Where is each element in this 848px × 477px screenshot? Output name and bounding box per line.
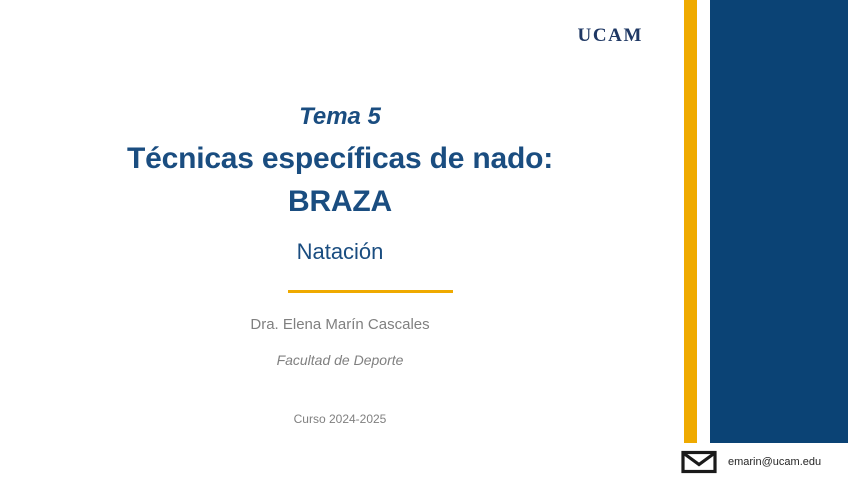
- page-title-line-2: BRAZA: [0, 181, 680, 224]
- page-title-line-1: Técnicas específicas de nado:: [127, 142, 553, 175]
- course-year: Curso 2024-2025: [0, 412, 680, 428]
- decorative-gold-bar: [684, 0, 697, 443]
- contact-email-text: emarin@ucam.edu: [728, 457, 821, 468]
- faculty-name: Facultad de Deporte: [0, 351, 680, 369]
- decorative-navy-panel: [710, 0, 848, 443]
- gold-divider: [288, 290, 453, 293]
- title-slide: UCAM Tema 5 Técnicas específicas de nado…: [0, 0, 848, 477]
- contact-email-row[interactable]: emarin@ucam.edu: [681, 450, 821, 474]
- slide-content: Tema 5 Técnicas específicas de nado: BRA…: [0, 0, 680, 477]
- page-title: Técnicas específicas de nado: BRAZA: [0, 138, 680, 223]
- unit-label: Tema 5: [0, 104, 680, 130]
- subject-label: Natación: [0, 239, 680, 265]
- author-name: Dra. Elena Marín Cascales: [0, 315, 680, 335]
- envelope-icon: [681, 450, 717, 474]
